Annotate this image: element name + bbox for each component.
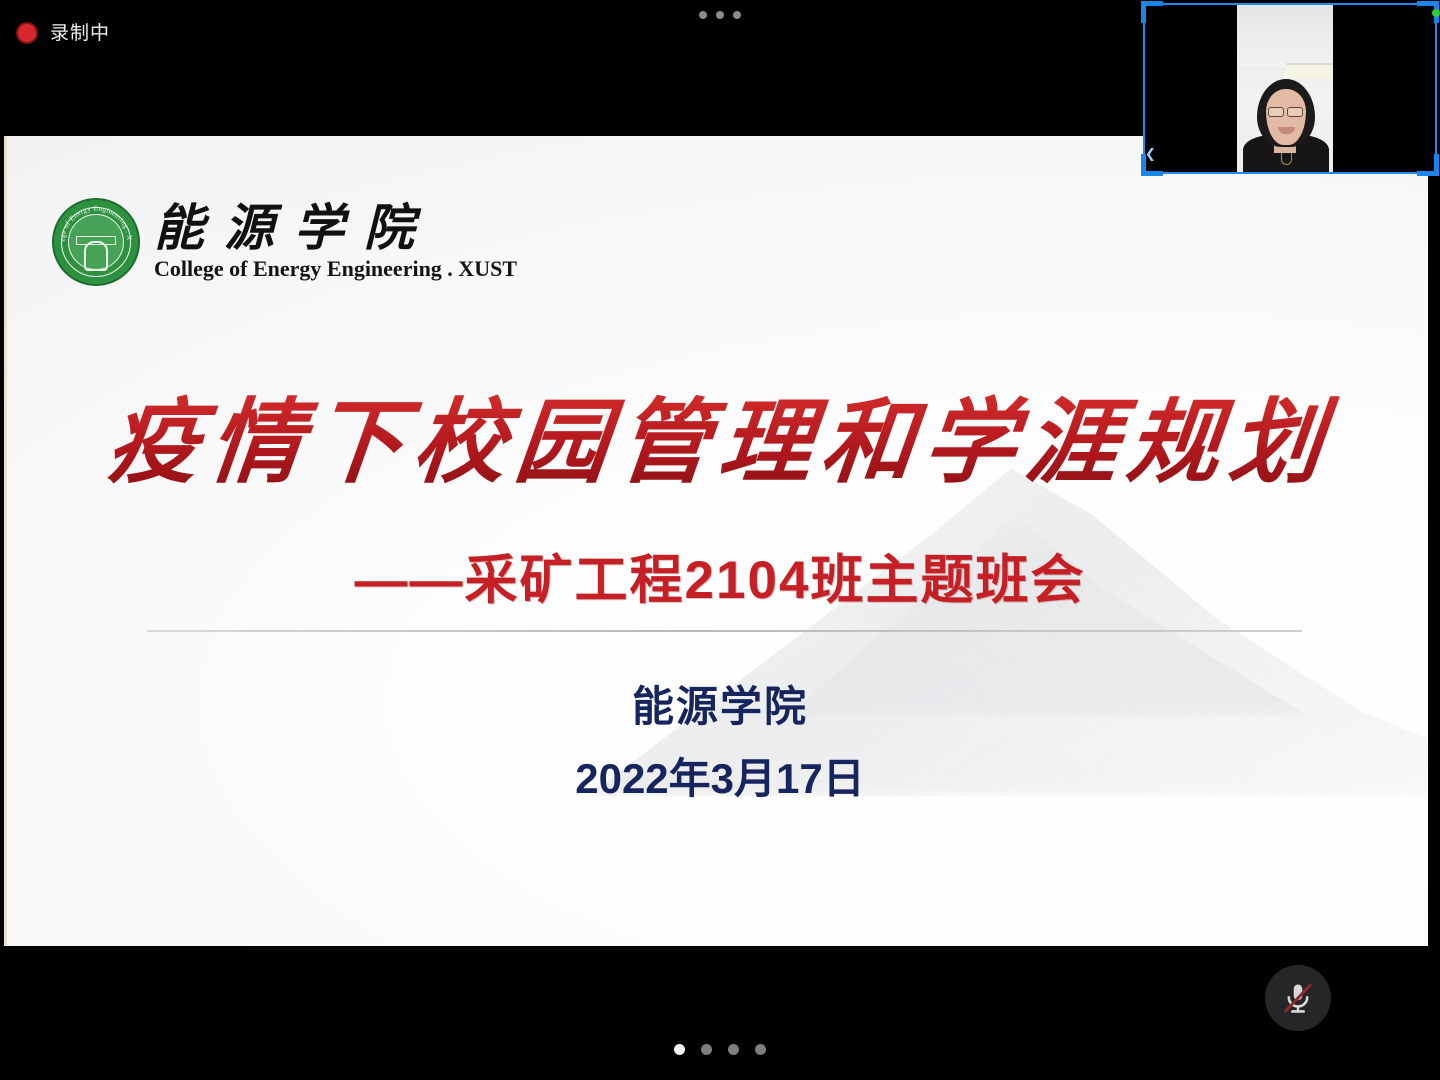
college-crest-icon: College of Energy Engineering . XUST: [52, 198, 140, 286]
college-logo-text: 能源学院 College of Energy Engineering . XUS…: [154, 202, 517, 283]
microphone-muted-icon[interactable]: [1265, 965, 1331, 1031]
crest-inner-circle: [68, 214, 124, 270]
more-dot-1: [699, 11, 707, 19]
camera-background: [1237, 3, 1333, 67]
camera-feed: [1237, 3, 1333, 174]
recording-label: 录制中: [50, 24, 110, 43]
college-logo: College of Energy Engineering . XUST 能源学…: [52, 198, 517, 286]
resize-handle-top-left[interactable]: [1141, 1, 1163, 23]
crest-base-icon: [76, 236, 116, 245]
record-dot-icon: [16, 22, 38, 44]
glasses-right-lens-icon: [1287, 107, 1303, 117]
slide-title: 疫情下校园管理和学涯规划: [0, 392, 1440, 495]
page-dot-1[interactable]: [674, 1044, 685, 1055]
page-dot-4[interactable]: [755, 1044, 766, 1055]
resize-handle-bottom-right[interactable]: [1417, 154, 1439, 176]
resize-caret-icon[interactable]: ❮: [1145, 147, 1156, 160]
participant-face: [1266, 89, 1306, 145]
slide-subtitle: ——采矿工程2104班主题班会: [0, 552, 1440, 610]
self-view-video-frame: [1143, 3, 1437, 174]
slide-divider: [147, 630, 1302, 632]
slide-organization: 能源学院: [0, 684, 1440, 730]
page-dot-2[interactable]: [701, 1044, 712, 1055]
more-dot-2: [716, 11, 724, 19]
more-dot-3: [733, 11, 741, 19]
screen-share-viewer: 录制中 ❮: [0, 0, 1440, 1080]
college-name-cn: 能源学院: [154, 202, 517, 255]
status-dot: [1432, 9, 1440, 17]
self-view-video-tile[interactable]: ❮: [1143, 3, 1437, 174]
ceiling-light: [1283, 63, 1333, 78]
page-indicator[interactable]: [674, 1044, 766, 1055]
glasses-left-lens-icon: [1268, 107, 1284, 117]
more-dots-icon[interactable]: [699, 11, 741, 19]
college-name-en: College of Energy Engineering . XUST: [154, 256, 517, 282]
necklace: [1281, 153, 1292, 165]
slide-date: 2022年3月17日: [0, 756, 1440, 802]
recording-indicator: 录制中: [16, 22, 110, 44]
page-dot-3[interactable]: [728, 1044, 739, 1055]
crest-torch-icon: [84, 241, 108, 271]
